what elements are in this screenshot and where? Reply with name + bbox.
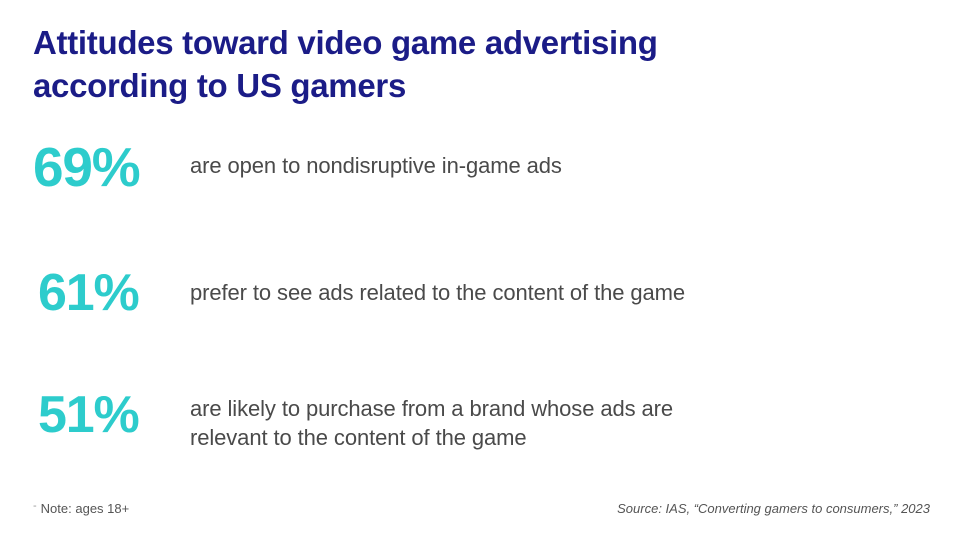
page-title-line-2: according to US gamers (33, 65, 863, 108)
stat-description-2-line-1: prefer to see ads related to the content… (190, 278, 685, 307)
footnote-text: Note: ages 18+ (41, 501, 130, 517)
stat-description-1: are open to nondisruptive in-game ads (156, 140, 562, 180)
stat-row: 51% are likely to purchase from a brand … (0, 389, 960, 453)
footnote-marker-icon: - (33, 500, 37, 513)
stat-description-2: prefer to see ads related to the content… (156, 267, 685, 307)
stat-value-3: 51% (0, 389, 156, 441)
stat-description-3-line-1: are likely to purchase from a brand whos… (190, 394, 673, 423)
footnote: - Note: ages 18+ (33, 501, 129, 517)
page-title: Attitudes toward video game advertising … (33, 22, 863, 108)
stat-value-1: 69% (0, 140, 156, 195)
source-citation: Source: IAS, “Converting gamers to consu… (617, 501, 930, 517)
infographic-slide: Attitudes toward video game advertising … (0, 0, 960, 540)
stat-description-1-line-1: are open to nondisruptive in-game ads (190, 151, 562, 180)
stat-description-3: are likely to purchase from a brand whos… (156, 389, 673, 453)
stat-row: 61% prefer to see ads related to the con… (0, 267, 960, 319)
stat-description-3-line-2: relevant to the content of the game (190, 423, 673, 452)
stat-value-2: 61% (0, 267, 156, 319)
page-title-line-1: Attitudes toward video game advertising (33, 22, 863, 65)
stat-row: 69% are open to nondisruptive in-game ad… (0, 140, 960, 195)
